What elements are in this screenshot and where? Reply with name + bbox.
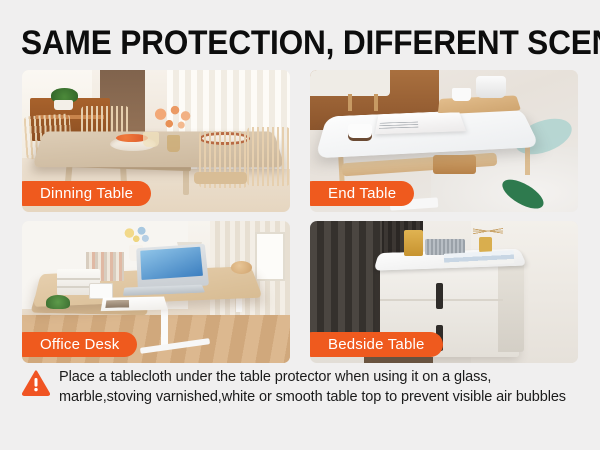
scenario-label-end-table: End Table bbox=[310, 181, 414, 206]
warning-note: Place a tablecloth under the table prote… bbox=[22, 368, 578, 440]
scenario-grid: Dinning Table End Table bbox=[22, 70, 578, 363]
warning-note-text: Place a tablecloth under the table prote… bbox=[59, 368, 578, 407]
scenario-card-dinning-table[interactable]: Dinning Table bbox=[22, 70, 290, 212]
scenario-label-bedside-table: Bedside Table bbox=[310, 332, 443, 357]
page-title: SAME PROTECTION, DIFFERENT SCENARIOS bbox=[21, 24, 542, 62]
scenario-label-office-desk: Office Desk bbox=[22, 332, 137, 357]
promo-banner: SAME PROTECTION, DIFFERENT SCENARIOS Din… bbox=[0, 0, 600, 450]
scenario-card-end-table[interactable]: End Table bbox=[310, 70, 578, 212]
scenario-card-office-desk[interactable]: Office Desk bbox=[22, 221, 290, 363]
scenario-label-dinning-table: Dinning Table bbox=[22, 181, 151, 206]
scenario-card-bedside-table[interactable]: Bedside Table bbox=[310, 221, 578, 363]
warning-triangle-icon bbox=[22, 370, 50, 396]
